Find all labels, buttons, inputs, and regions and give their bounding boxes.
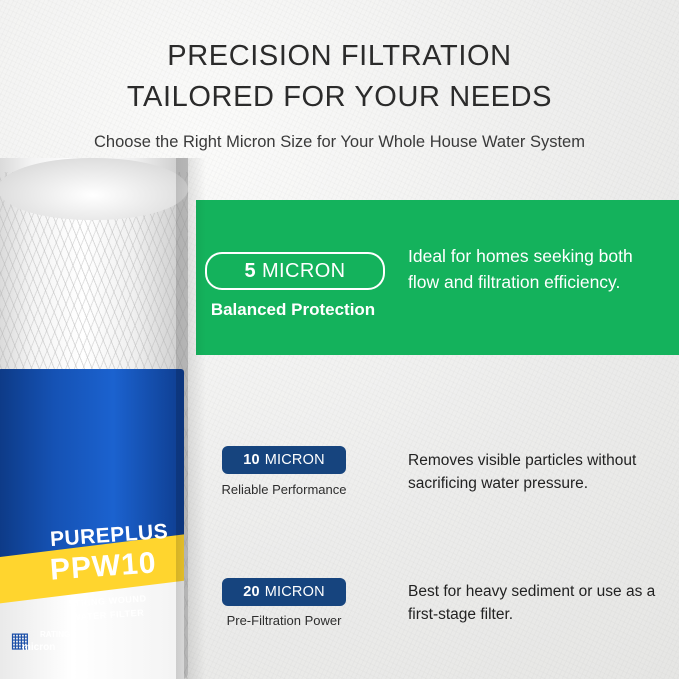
badge-10-description: Removes visible particles without sacrif…	[408, 449, 668, 495]
badge-5-number: 5	[244, 260, 256, 283]
badge-5-caption: Balanced Protection	[186, 300, 400, 320]
badge-10-number: 10	[243, 452, 260, 468]
badge-10-caption: Reliable Performance	[189, 482, 379, 497]
badge-5-micron: 5 MICRON	[205, 252, 385, 290]
page-subtitle: Choose the Right Micron Size for Your Wh…	[0, 133, 679, 152]
badge-10-unit: MICRON	[265, 452, 325, 468]
title-line-1: PRECISION FILTRATION	[0, 40, 679, 73]
badge-20-description: Best for heavy sediment or use as a firs…	[408, 580, 668, 626]
product-photo: PUREPLUS PPW10 STRING WOUND WATER FILTER…	[0, 158, 205, 679]
badge-10-micron: 10 MICRON	[222, 446, 346, 474]
badge-20-caption: Pre-Filtration Power	[189, 613, 379, 628]
product-infographic: PRECISION FILTRATION TAILORED FOR YOUR N…	[0, 0, 679, 679]
rating-label: RATING	[40, 630, 70, 639]
badge-20-unit: MICRON	[265, 584, 325, 600]
badge-20-number: 20	[243, 584, 260, 600]
badge-5-unit: MICRON	[262, 260, 346, 283]
badge-20-micron: 20 MICRON	[222, 578, 346, 606]
product-shadow	[176, 158, 206, 679]
title-line-2: TAILORED FOR YOUR NEEDS	[0, 81, 679, 114]
page-title: PRECISION FILTRATION TAILORED FOR YOUR N…	[0, 40, 679, 114]
rating-unit: micron	[22, 642, 55, 653]
badge-5-description: Ideal for homes seeking both flow and fi…	[408, 243, 660, 295]
cartridge-top-cap	[0, 158, 188, 220]
